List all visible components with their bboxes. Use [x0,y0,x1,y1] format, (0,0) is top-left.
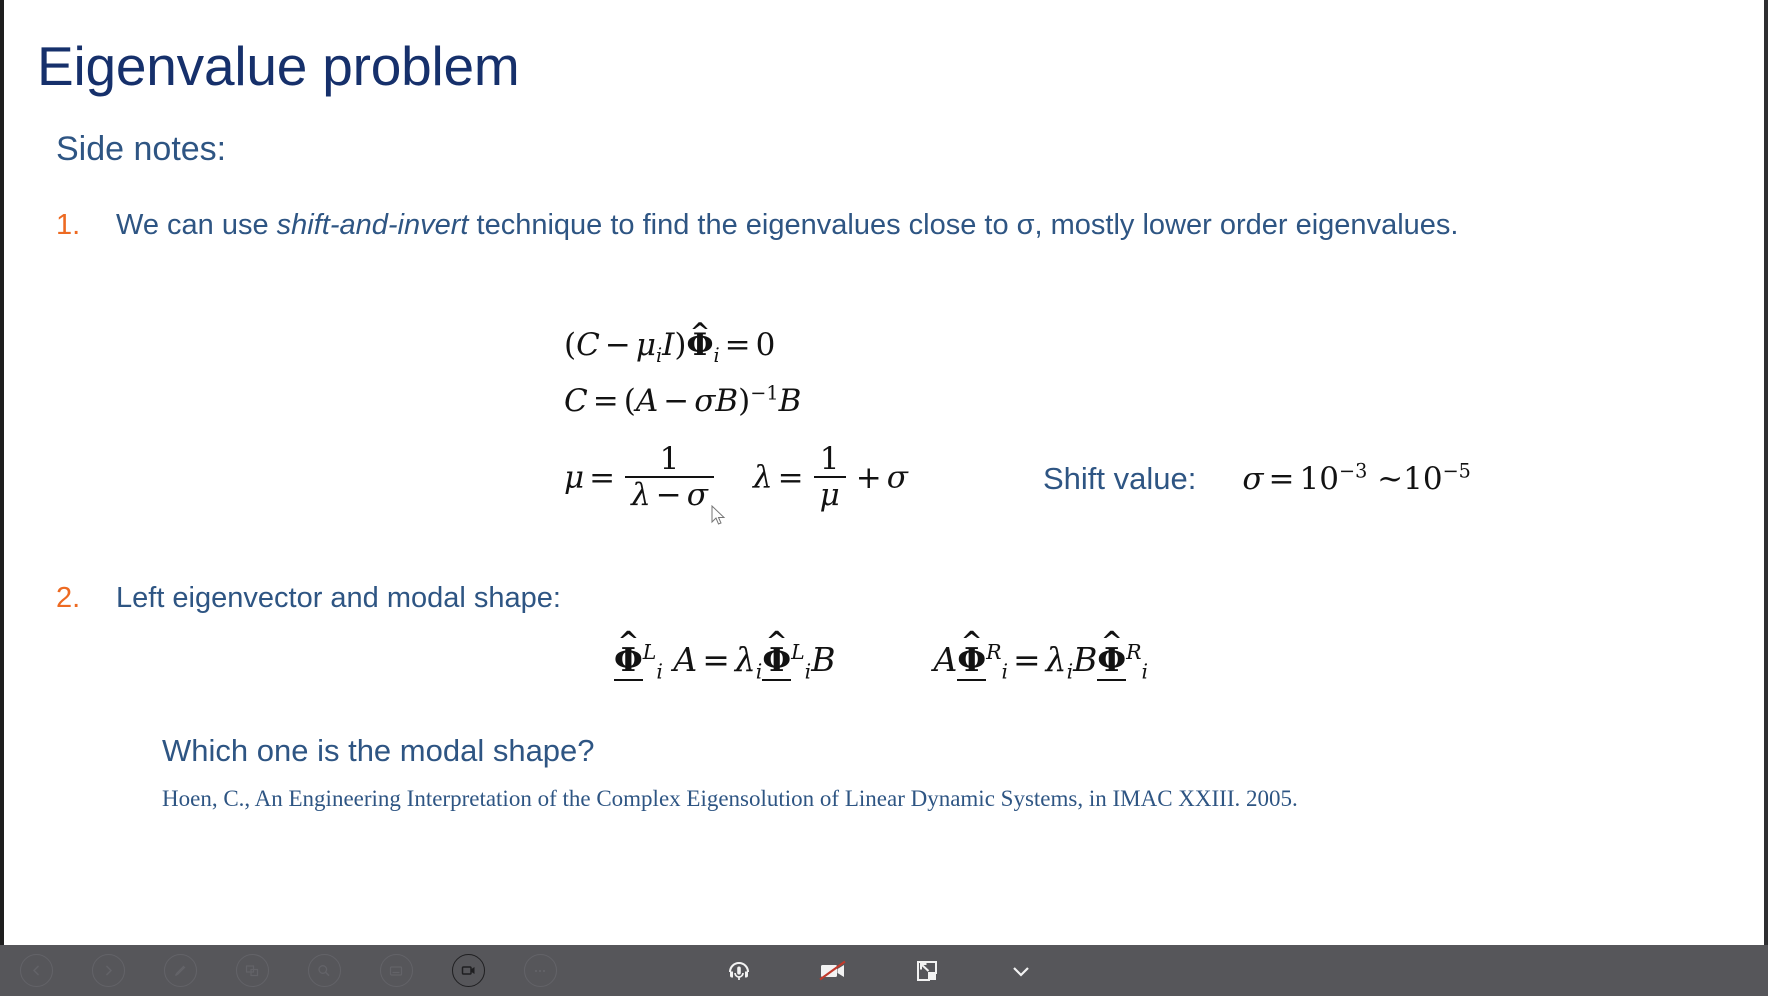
slide-canvas: Eigenvalue problem Side notes: 1. We can… [4,0,1764,945]
item1-italic-term: shift-and-invert [277,209,469,241]
list-item-2-text: Left eigenvector and modal shape: [116,578,561,618]
mouse-cursor-icon [711,505,727,527]
toolbar-left-group [0,945,576,996]
presentation-toolbar [0,945,1768,996]
camera-off-icon [818,957,848,985]
record-video-icon [452,954,485,987]
more-options-button[interactable] [504,945,576,996]
equation-3: μ=1λ−σ λ=1μ+σ [564,444,908,514]
list-item-1-number: 1. [56,205,116,245]
pen-annotate-button[interactable] [144,945,216,996]
pen-annotate-icon [164,954,197,987]
toolbar-center-group [717,945,1043,996]
modal-shape-question: Which one is the modal shape? [162,733,595,769]
shift-value-expression: σ=10−3 ~10−5 [1242,461,1471,497]
more-options-icon [524,954,557,987]
shift-value-label: Shift value: [1043,461,1196,497]
previous-slide-button[interactable] [0,945,72,996]
equation-2: C=(A−σB)−1B [564,374,908,428]
zoom-magnifier-icon [308,954,341,987]
item1-text-after: technique to find the eigenvalues close … [468,209,1458,241]
subtitles-button[interactable] [360,945,432,996]
camera-off-button[interactable] [811,949,855,993]
side-notes-heading: Side notes: [56,127,226,171]
equation-mu-definition: μ=1λ−σ [564,444,719,514]
previous-slide-icon [20,954,53,987]
citation-reference: Hoen, C., An Engineering Interpretation … [162,786,1298,812]
equation-1: (C−μiI)Φ^i=0 [564,318,908,372]
share-screen-icon [913,957,941,985]
record-video-button[interactable] [432,945,504,996]
equation-block-eigenvectors: Φ^Li A=λiΦ^LiB AΦ^Ri=λiBΦ^Ri [614,640,1148,681]
presentation-window: Eigenvalue problem Side notes: 1. We can… [0,0,1768,996]
equation-right-eigenvector: AΦ^Ri=λiBΦ^Ri [933,640,1148,681]
equation-block-shift-invert: (C−μiI)Φ^i=0 C=(A−σB)−1B μ=1λ−σ λ=1μ+σ [564,318,908,514]
share-screen-button[interactable] [905,949,949,993]
subtitles-icon [380,954,413,987]
chevron-down-icon [1007,957,1035,985]
equation-lambda-definition: λ=1μ+σ [753,444,908,514]
item1-text-before: We can use [116,209,277,241]
list-item-1: 1. We can use shift-and-invert technique… [56,205,1458,245]
page-title: Eigenvalue problem [37,35,520,97]
list-item-1-text: We can use shift-and-invert technique to… [116,205,1458,245]
equation-left-eigenvector: Φ^Li A=λiΦ^LiB [614,640,835,681]
next-slide-button[interactable] [72,945,144,996]
shift-value-row: Shift value: σ=10−3 ~10−5 [1043,461,1471,497]
list-item-2-number: 2. [56,578,116,618]
more-chevron-button[interactable] [999,949,1043,993]
headset-microphone-button[interactable] [717,949,761,993]
headset-microphone-icon [725,957,753,985]
all-slides-icon [236,954,269,987]
all-slides-button[interactable] [216,945,288,996]
next-slide-icon [92,954,125,987]
list-item-2: 2. Left eigenvector and modal shape: [56,578,561,618]
zoom-magnifier-button[interactable] [288,945,360,996]
